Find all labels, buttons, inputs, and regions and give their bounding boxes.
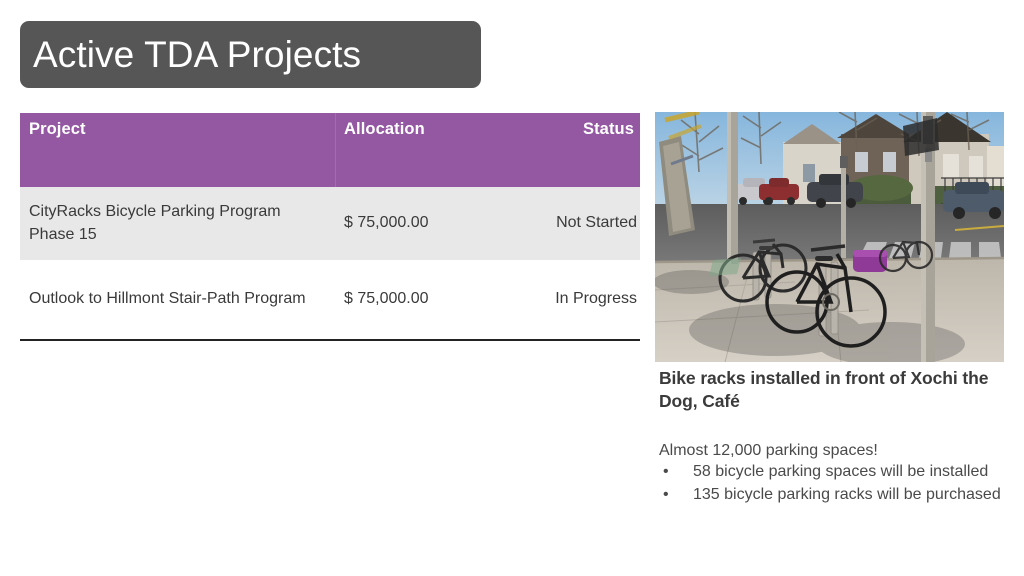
photo-caption: Bike racks installed in front of Xochi t… — [659, 367, 999, 413]
page-title: Active TDA Projects — [33, 36, 361, 73]
cell-project: CityRacks Bicycle Parking Program Phase … — [29, 201, 329, 246]
table-bottom-rule — [20, 339, 640, 341]
active-projects-table: Project Allocation Status CityRacks Bicy… — [20, 113, 640, 341]
table-row: Outlook to Hillmont Stair-Path Program $… — [20, 260, 640, 338]
notes-bullet-list: • 58 bicycle parking spaces will be inst… — [659, 461, 1004, 508]
cell-allocation: $ 75,000.00 — [344, 212, 524, 235]
list-item-label: 135 bicycle parking racks will be purcha… — [693, 486, 1001, 503]
cell-status: Not Started — [556, 212, 637, 235]
table-row: CityRacks Bicycle Parking Program Phase … — [20, 187, 640, 260]
notes-lead-text: Almost 12,000 parking spaces! — [659, 440, 999, 462]
header-column-divider — [335, 113, 336, 187]
column-header-project: Project — [29, 120, 86, 139]
column-header-status: Status — [583, 120, 634, 139]
table-header-row: Project Allocation Status — [20, 113, 640, 187]
list-item: • 58 bicycle parking spaces will be inst… — [659, 461, 1004, 482]
cell-allocation: $ 75,000.00 — [344, 288, 524, 311]
bullet-dot-icon: • — [663, 461, 669, 482]
bike-racks-photo — [655, 112, 1004, 362]
slide-title-banner: Active TDA Projects — [20, 21, 481, 88]
bike-racks-photo-illustration — [655, 112, 1004, 362]
list-item: • 135 bicycle parking racks will be purc… — [659, 484, 1004, 505]
list-item-label: 58 bicycle parking spaces will be instal… — [693, 463, 988, 480]
bullet-dot-icon: • — [663, 484, 669, 505]
column-header-allocation: Allocation — [344, 120, 425, 139]
cell-status: In Progress — [555, 288, 637, 311]
cell-project: Outlook to Hillmont Stair-Path Program — [29, 288, 329, 311]
